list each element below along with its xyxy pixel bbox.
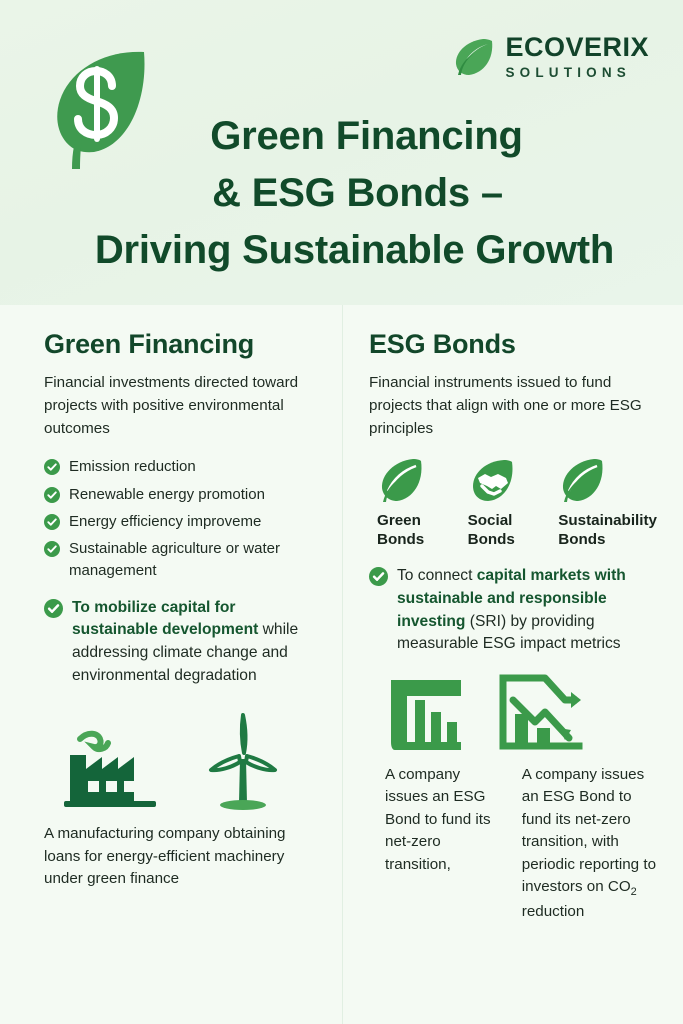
declining-chart-arrow-icon [495,672,587,758]
esg-bonds-heading: ESG Bonds [369,329,657,360]
content-body: Green Financing Financial investments di… [0,305,683,1024]
infographic-page: ECOVERIX SOLUTIONS Green Financing & ESG… [0,0,683,1024]
bond-type-label: Social Bonds [468,512,551,549]
check-circle-icon [44,459,60,475]
bond-label-line1: Sustainability [558,512,657,529]
esg-bonds-captions: A company issues an ESG Bond to fund its… [385,764,657,923]
leaf-icon [452,35,496,79]
green-financing-highlight: To mobilize capital for sustainable deve… [44,597,314,687]
bond-types-row: Green Bonds Social Bonds [369,456,657,549]
handshake-leaf-icon [468,456,518,506]
bond-label-line1: Green [377,512,421,529]
brand-name: ECOVERIX [505,34,649,61]
bar-chart-icon [385,672,467,758]
highlight-bold-text: To mobilize capital for sustainable deve… [72,599,258,639]
bond-label-line2: Bonds [468,531,515,548]
check-circle-icon [44,514,60,530]
leaf-icon [558,456,608,506]
list-item: Emission reduction [44,456,314,477]
brand-subtitle: SOLUTIONS [505,66,649,80]
title-line-2: & ESG Bonds – [42,165,673,222]
bond-label-line1: Social [468,512,513,529]
list-item-label: Emission reduction [69,456,196,477]
check-circle-icon [44,487,60,503]
esg-caption-left: A company issues an ESG Bond to fund its… [385,764,504,923]
green-financing-bullet-list: Emission reduction Renewable energy prom… [44,456,314,687]
esg-caption-right-pre: A company issues an ESG Bond to fund its… [522,766,656,896]
wind-turbine-icon [206,709,280,813]
list-item-label: Renewable energy promotion [69,484,265,505]
bond-type-social: Social Bonds [460,456,551,549]
brand-logo: ECOVERIX SOLUTIONS [452,34,649,80]
esg-bonds-column: ESG Bonds Financial instruments issued t… [342,305,683,1024]
bond-label-line2: Bonds [377,531,424,548]
list-item: Sustainable agriculture or water managem… [44,538,314,581]
bond-type-label: Green Bonds [377,512,460,549]
check-circle-icon [44,599,63,618]
green-financing-heading: Green Financing [44,329,314,360]
bond-label-line2: Bonds [558,531,605,548]
esg-bonds-highlight: To connect capital markets with sustaina… [369,565,657,655]
esg-caption-right: A company issues an ESG Bond to fund its… [522,764,657,923]
factory-icon [58,725,162,813]
esg-caption-right-post: reduction [522,903,584,920]
green-financing-column: Green Financing Financial investments di… [0,305,342,1024]
header-banner: ECOVERIX SOLUTIONS Green Financing & ESG… [0,0,683,305]
bond-type-green: Green Bonds [369,456,460,549]
highlight-pre-text: To connect [397,567,477,584]
title-line-1: Green Financing [60,108,673,165]
green-financing-intro: Financial investments directed toward pr… [44,372,314,440]
esg-caption-right-sub: 2 [631,886,637,898]
leaf-icon [377,456,427,506]
bond-type-label: Sustainability Bonds [558,512,657,549]
esg-bonds-illustrations [385,672,657,758]
list-item-label: Energy efficiency improveme [69,511,261,532]
green-financing-caption: A manufacturing company obtaining loans … [44,823,314,891]
check-circle-icon [369,567,388,586]
check-circle-icon [44,541,60,557]
green-financing-illustrations [58,705,314,813]
list-item: Energy efficiency improveme [44,511,314,532]
list-item: Renewable energy promotion [44,484,314,505]
title-line-3: Driving Sustainable Growth [36,222,673,279]
page-title: Green Financing & ESG Bonds – Driving Su… [0,108,683,278]
bond-type-sustainability: Sustainability Bonds [550,456,657,549]
esg-bonds-intro: Financial instruments issued to fund pro… [369,372,657,440]
list-item-label: Sustainable agriculture or water managem… [69,538,314,581]
